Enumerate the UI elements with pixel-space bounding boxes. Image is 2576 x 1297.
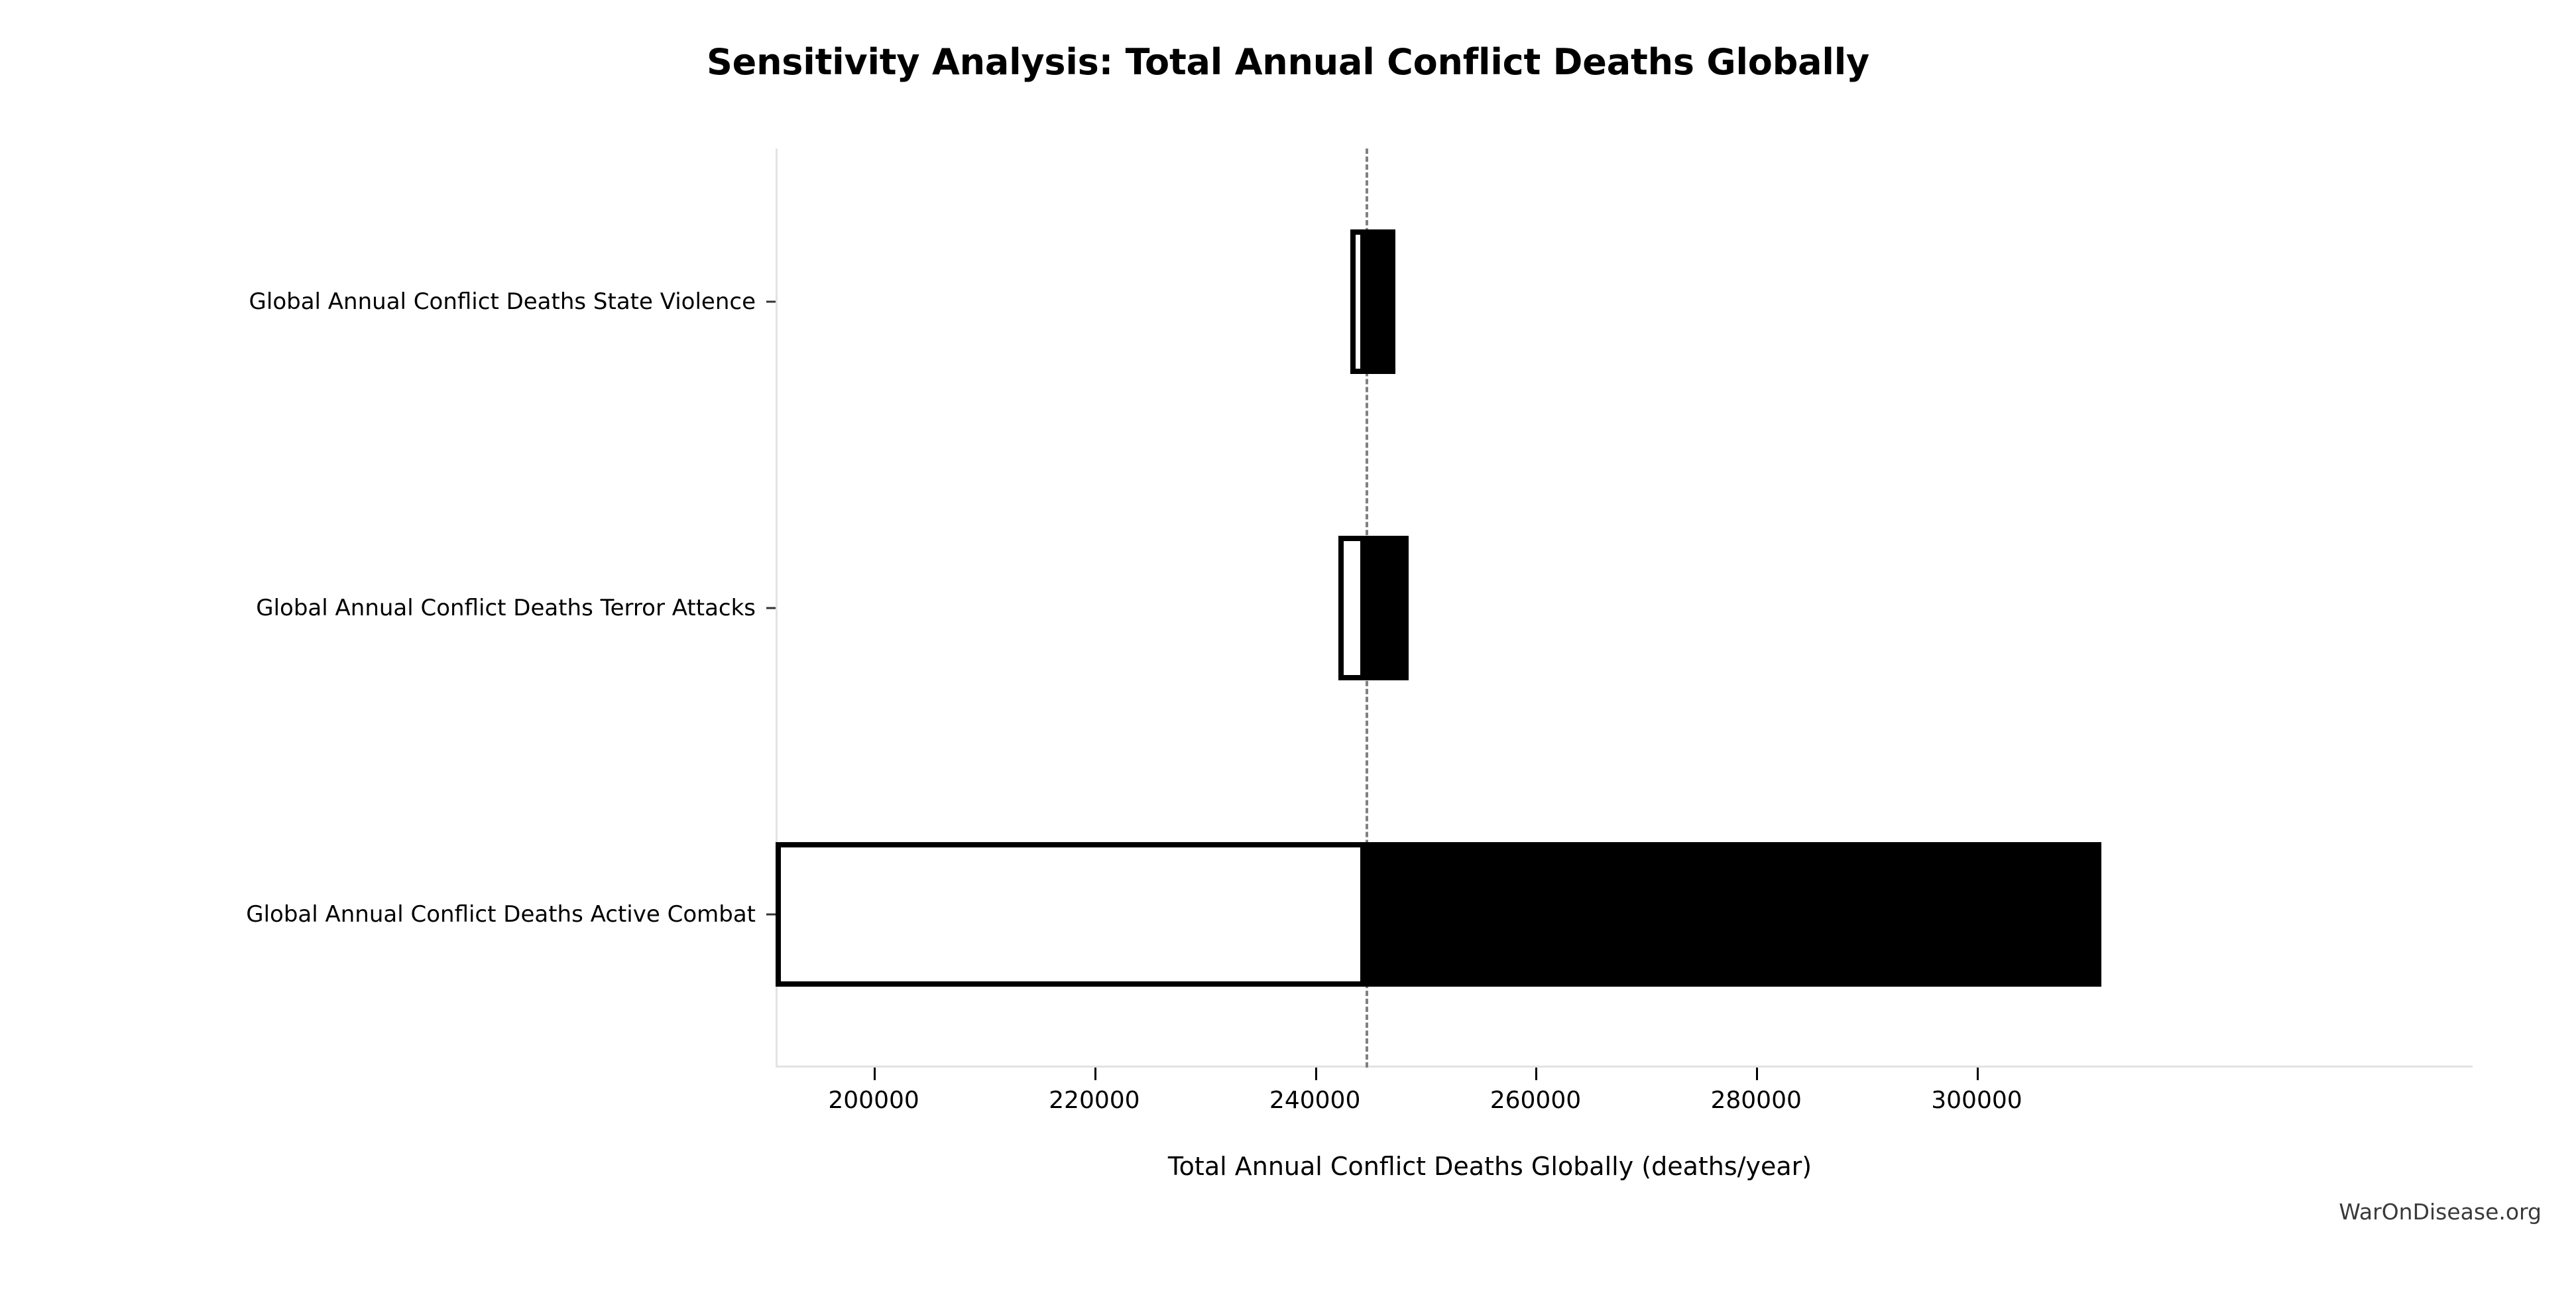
x-tick-label: 280000: [1710, 1087, 1801, 1114]
y-tick-mark: [766, 607, 776, 609]
x-axis-spine: [776, 1066, 2473, 1068]
y-tick-label: Global Annual Conflict Deaths State Viol…: [13, 288, 756, 315]
bar-segment-high: [1366, 536, 1409, 680]
x-axis-title: Total Annual Conflict Deaths Globally (d…: [776, 1152, 2204, 1181]
chart-figure: Sensitivity Analysis: Total Annual Confl…: [0, 0, 2576, 1297]
watermark: WarOnDisease.org: [2339, 1199, 2542, 1225]
y-tick-mark: [766, 914, 776, 916]
bar-segment-low: [1350, 229, 1366, 373]
x-tick-label: 260000: [1490, 1087, 1581, 1114]
x-tick-mark: [1094, 1068, 1096, 1080]
chart-title: Sensitivity Analysis: Total Annual Confl…: [0, 41, 2576, 83]
x-tick-mark: [1756, 1068, 1758, 1080]
x-tick-label: 240000: [1269, 1087, 1360, 1114]
y-tick-mark: [766, 301, 776, 303]
x-tick-mark: [1977, 1068, 1979, 1080]
x-tick-label: 220000: [1049, 1087, 1140, 1114]
y-tick-label: Global Annual Conflict Deaths Active Com…: [13, 901, 756, 928]
x-tick-mark: [874, 1068, 876, 1080]
tornado-bar-row: [776, 842, 2101, 986]
y-tick-label: Global Annual Conflict Deaths Terror Att…: [13, 595, 756, 621]
x-tick-mark: [1315, 1068, 1317, 1080]
bar-segment-low: [1338, 536, 1366, 680]
tornado-bar-row: [776, 536, 2101, 680]
plot-area: Global Annual Conflict Deaths State Viol…: [776, 149, 2101, 1068]
tornado-bar-row: [776, 229, 2101, 373]
x-tick-mark: [1535, 1068, 1537, 1080]
bar-segment-low: [776, 842, 1366, 986]
bar-segment-high: [1366, 842, 2101, 986]
bar-segment-high: [1366, 229, 1395, 373]
x-tick-label: 300000: [1931, 1087, 2022, 1114]
x-tick-label: 200000: [828, 1087, 919, 1114]
